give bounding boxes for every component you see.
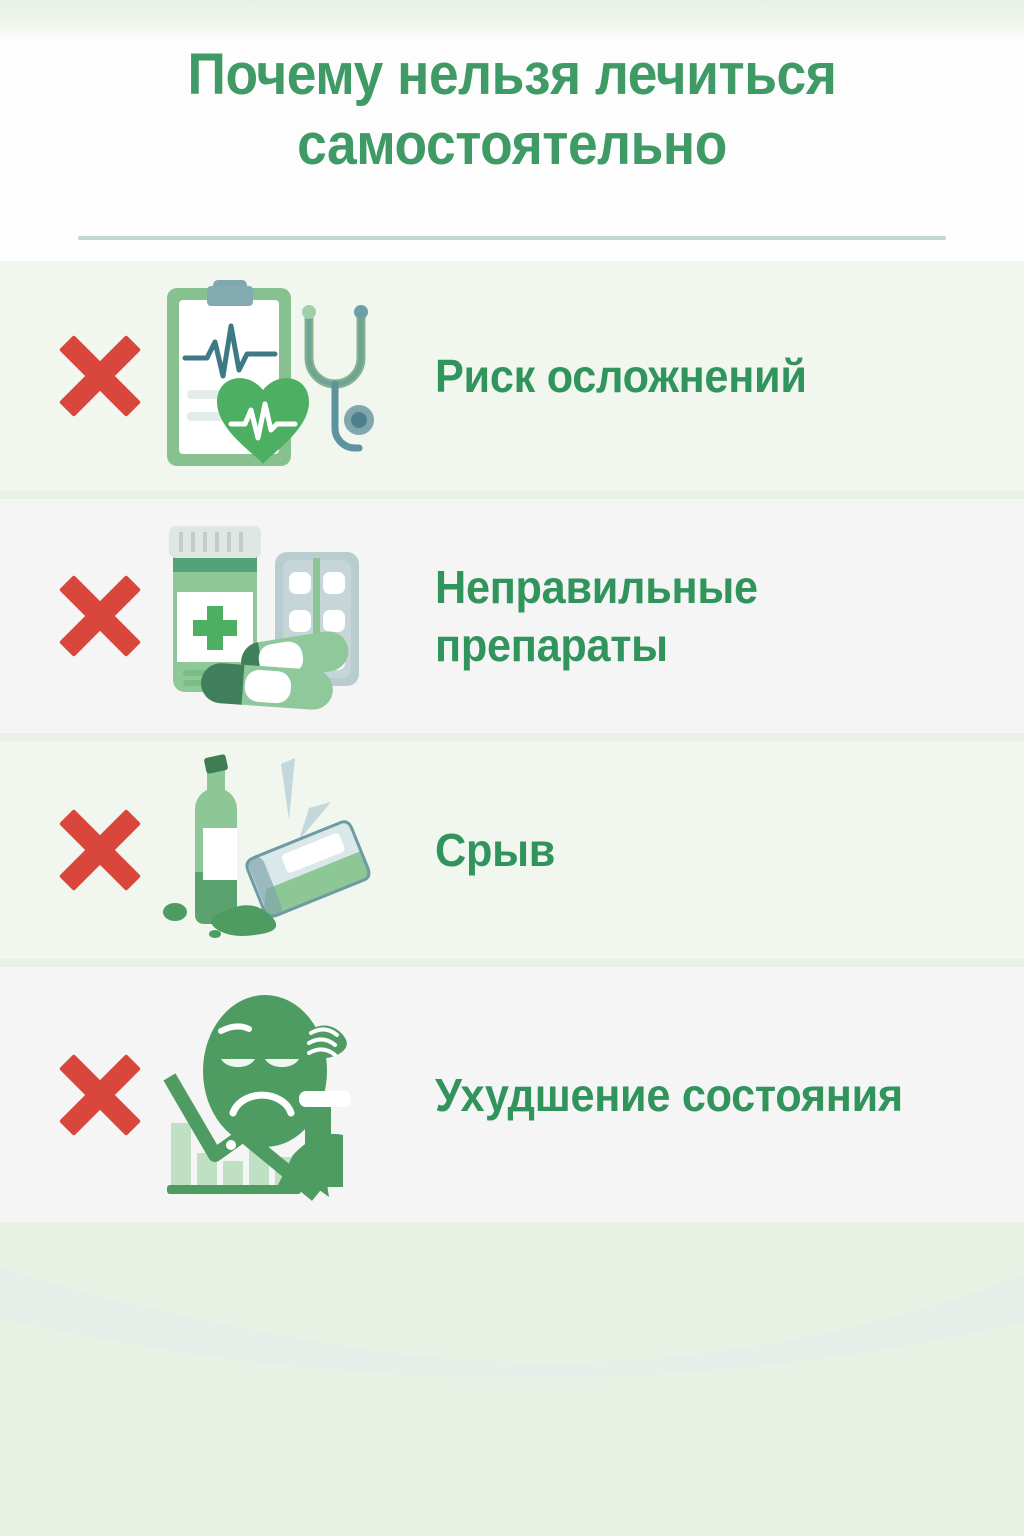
infographic-poster: Почему нельзя лечиться самостоятельно — [0, 0, 1024, 1536]
page-title: Почему нельзя лечиться самостоятельно — [41, 40, 983, 180]
x-mark-icon — [55, 331, 145, 421]
bottle-spilled-glass-icon — [153, 752, 393, 948]
list-item: Неправильные препараты — [0, 499, 1024, 733]
x-mark-icon — [55, 571, 145, 661]
reason-list: Риск осложнений — [0, 261, 1024, 1230]
list-item-label: Срыв — [435, 821, 989, 879]
top-gradient-band — [0, 0, 1024, 40]
x-mark-icon — [55, 1050, 145, 1140]
list-item-label: Ухудшение состояния — [435, 1066, 989, 1124]
bottom-wave-decoration — [0, 1226, 1024, 1536]
list-item: Срыв — [0, 741, 1024, 959]
clipboard-stethoscope-heart-icon — [153, 278, 393, 474]
list-item: Ухудшение состояния — [0, 967, 1024, 1222]
list-item: Риск осложнений — [0, 261, 1024, 491]
list-item-label: Неправильные препараты — [435, 558, 989, 674]
x-mark-icon — [55, 805, 145, 895]
list-item-label: Риск осложнений — [435, 347, 989, 405]
distressed-person-declining-chart-icon — [153, 985, 393, 1205]
title-divider — [78, 236, 946, 240]
pill-bottle-blister-capsules-icon — [153, 518, 393, 714]
